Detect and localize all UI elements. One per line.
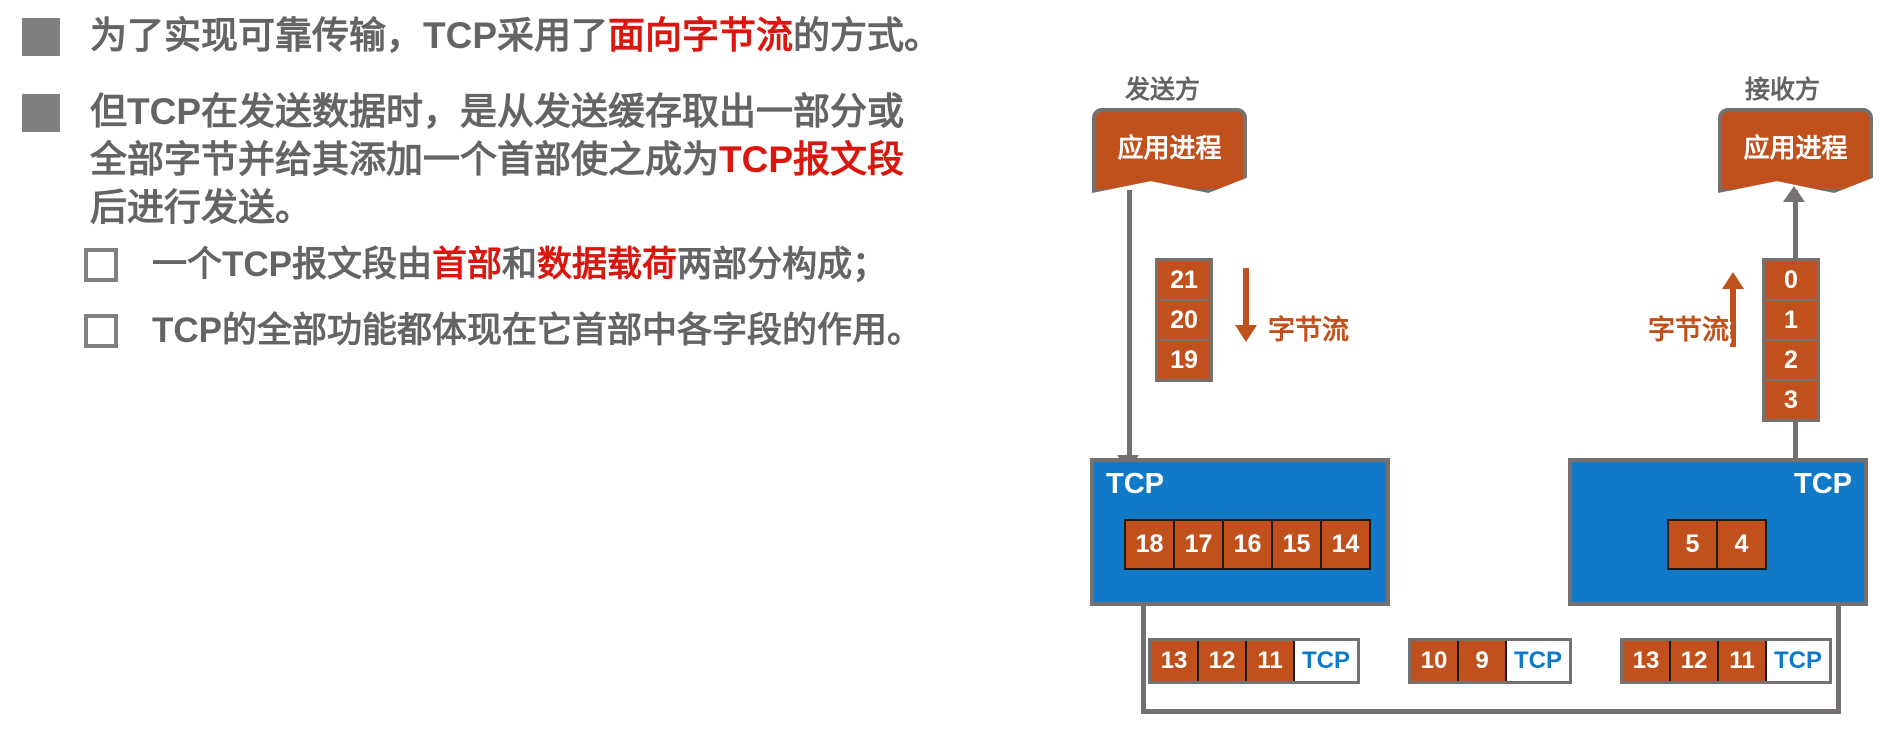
packet-1: 131211TCP [1148, 638, 1360, 684]
packet-data-byte: 13 [1623, 641, 1671, 681]
text-run: 和 [502, 245, 537, 284]
packet-data-byte: 11 [1719, 641, 1767, 681]
receiver-stream-arrow-shaft [1730, 285, 1736, 347]
text-run: 后进行发送。 [90, 187, 312, 228]
sender-label: 发送方 [1125, 70, 1200, 106]
highlighted-text-run: TCP报文段 [719, 139, 904, 180]
packet-3: 131211TCP [1620, 638, 1832, 684]
network-link-right-segment [1836, 606, 1841, 714]
receiver-stream-label: 字节流 [1648, 308, 1729, 347]
byte-cell: 16 [1224, 521, 1273, 568]
packet-data-byte: 9 [1459, 641, 1507, 681]
packet-data-byte: 12 [1671, 641, 1719, 681]
byte-cell: 0 [1765, 261, 1817, 301]
receiver-tcp-segment-bytes: 54 [1667, 519, 1767, 570]
sender-application-process: 应用进程 [1092, 108, 1247, 193]
bullet-item-4: TCP的全部功能都体现在它首部中各字段的作用。 [84, 308, 922, 354]
byte-cell: 18 [1126, 521, 1175, 568]
byte-cell: 15 [1273, 521, 1322, 568]
receiver-tcp-title: TCP [1794, 468, 1852, 501]
bullet-text-4: TCP的全部功能都体现在它首部中各字段的作用。 [152, 308, 922, 354]
sender-connector-line [1127, 190, 1132, 460]
receiver-application-process-label: 应用进程 [1743, 128, 1847, 165]
receiver-application-process: 应用进程 [1718, 108, 1873, 193]
packet-data-byte: 13 [1151, 641, 1199, 681]
byte-cell: 20 [1158, 301, 1210, 341]
text-run: 两部分构成； [677, 245, 887, 284]
bullet-text-1: 为了实现可靠传输，TCP采用了面向字节流的方式。 [90, 12, 941, 60]
sender-stream-arrowhead-icon [1235, 325, 1257, 342]
bullet-item-3: 一个TCP报文段由首部和数据载荷两部分构成； [84, 242, 887, 288]
network-link-left-segment [1141, 606, 1146, 714]
packet-data-byte: 10 [1411, 641, 1459, 681]
network-link-bottom-segment [1141, 709, 1841, 714]
filled-square-bullet-icon [22, 18, 60, 56]
receiver-tcp-block: TCP 54 [1568, 458, 1868, 606]
receiver-label: 接收方 [1745, 70, 1820, 106]
byte-cell: 2 [1765, 341, 1817, 381]
receiver-stream-arrowhead-icon [1722, 272, 1744, 289]
highlighted-text-run: 面向字节流 [608, 15, 793, 56]
byte-cell: 4 [1718, 521, 1765, 568]
slide-root: 为了实现可靠传输，TCP采用了面向字节流的方式。 但TCP在发送数据时，是从发送… [0, 0, 1880, 750]
sender-buffer-bytes: 212019 [1155, 258, 1213, 382]
bullet-text-3: 一个TCP报文段由首部和数据载荷两部分构成； [152, 242, 887, 288]
byte-cell: 19 [1158, 341, 1210, 379]
highlighted-text-run: 数据载荷 [537, 245, 677, 284]
sender-tcp-title: TCP [1106, 468, 1164, 501]
receiver-connector-arrowhead-icon [1783, 186, 1805, 202]
text-run: TCP的全部功能都体现在它首部中各字段的作用。 [152, 311, 922, 350]
hollow-square-bullet-icon [84, 248, 118, 282]
byte-cell: 21 [1158, 261, 1210, 301]
text-column: 为了实现可靠传输，TCP采用了面向字节流的方式。 但TCP在发送数据时，是从发送… [0, 0, 1080, 750]
highlighted-text-run: 首部 [432, 245, 502, 284]
packet-tcp-header: TCP [1507, 641, 1569, 681]
sender-application-process-label: 应用进程 [1117, 128, 1221, 165]
packet-data-byte: 11 [1247, 641, 1295, 681]
sender-stream-label: 字节流 [1268, 308, 1349, 347]
filled-square-bullet-icon [22, 94, 60, 132]
byte-cell: 5 [1669, 521, 1718, 568]
hollow-square-bullet-icon [84, 314, 118, 348]
text-run: 的方式。 [793, 15, 941, 56]
byte-cell: 3 [1765, 381, 1817, 419]
bullet-item-2: 但TCP在发送数据时，是从发送缓存取出一部分或 全部字节并给其添加一个首部使之成… [22, 88, 904, 232]
byte-cell: 14 [1322, 521, 1369, 568]
bullet-item-1: 为了实现可靠传输，TCP采用了面向字节流的方式。 [22, 12, 941, 60]
packet-tcp-header: TCP [1767, 641, 1829, 681]
text-run: 一个TCP报文段由 [152, 245, 432, 284]
byte-cell: 1 [1765, 301, 1817, 341]
sender-stream-arrow-shaft [1243, 268, 1249, 330]
byte-cell: 17 [1175, 521, 1224, 568]
bullet-text-2: 但TCP在发送数据时，是从发送缓存取出一部分或 全部字节并给其添加一个首部使之成… [90, 88, 904, 232]
sender-tcp-segment-bytes: 1817161514 [1124, 519, 1371, 570]
packet-2: 109TCP [1408, 638, 1572, 684]
packet-tcp-header: TCP [1295, 641, 1357, 681]
packet-data-byte: 12 [1199, 641, 1247, 681]
sender-tcp-block: TCP 1817161514 [1090, 458, 1390, 606]
receiver-buffer-bytes: 0123 [1762, 258, 1820, 422]
text-run: 为了实现可靠传输，TCP采用了 [90, 15, 608, 56]
